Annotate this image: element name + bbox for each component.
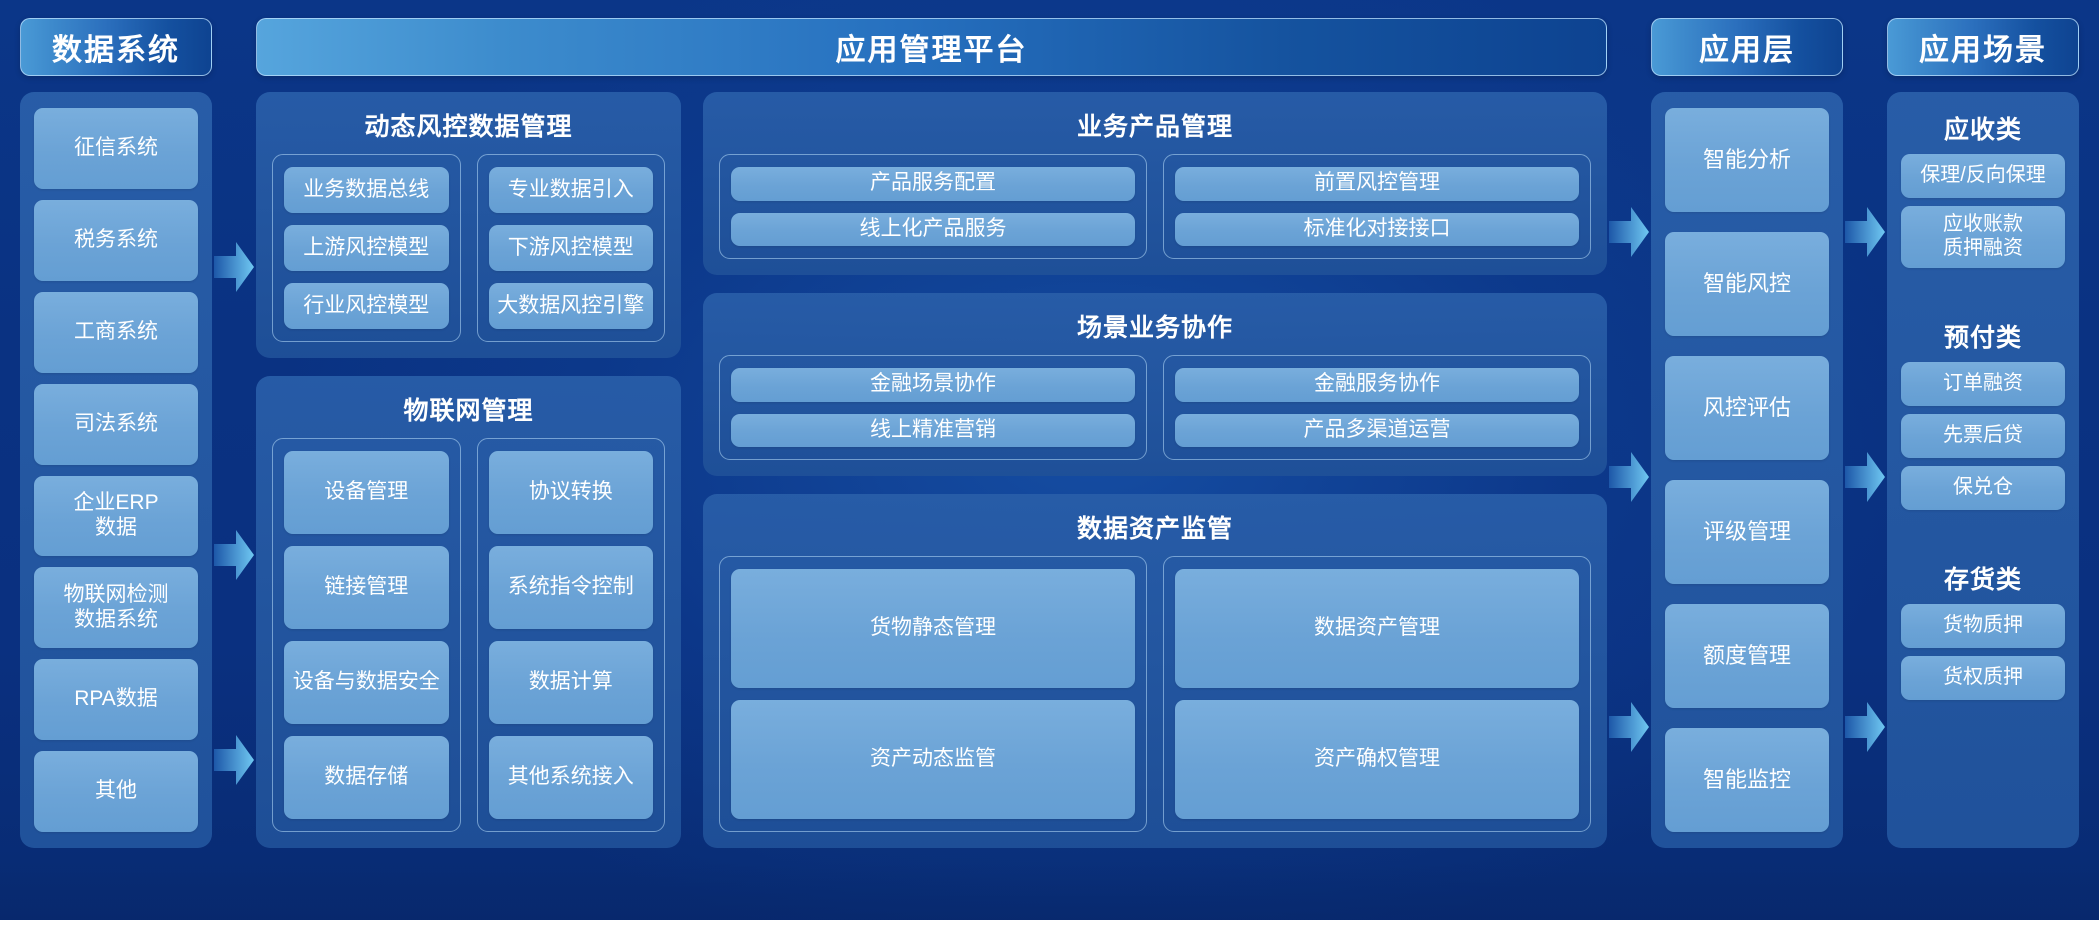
panel-data-system-items: 征信系统 税务系统 工商系统 司法系统 企业ERP 数据 物联网检测 数据系统 … xyxy=(20,92,212,848)
list-item[interactable]: 保兑仓 xyxy=(1901,466,2065,510)
column-platform: 应用管理平台 动态风控数据管理 业务数据总线 上游风控模型 行业风控模型 xyxy=(256,18,1607,848)
list-item[interactable]: 前置风控管理 xyxy=(1175,167,1579,201)
group-business-product-management: 业务产品管理 产品服务配置 线上化产品服务 前置风控管理 标准化对接接口 xyxy=(703,92,1607,275)
arrow-right-icon xyxy=(214,238,254,296)
subgroup-right: 协议转换 系统指令控制 数据计算 其他系统接入 xyxy=(477,438,666,832)
list-item[interactable]: 数据计算 xyxy=(489,641,654,724)
group-risk-data-management: 动态风控数据管理 业务数据总线 上游风控模型 行业风控模型 专业数据引入 下游风… xyxy=(256,92,681,358)
list-item[interactable]: 征信系统 xyxy=(34,108,198,189)
application-layer-list: 智能分析 智能风控 风控评估 评级管理 额度管理 智能监控 xyxy=(1665,108,1829,832)
list-item[interactable]: 其他系统接入 xyxy=(489,736,654,819)
list-item[interactable]: 专业数据引入 xyxy=(489,167,654,213)
group-columns: 产品服务配置 线上化产品服务 前置风控管理 标准化对接接口 xyxy=(719,154,1591,259)
subgroup-left: 货物静态管理 资产动态监管 xyxy=(719,556,1147,832)
diagram-columns: 数据系统 征信系统 税务系统 工商系统 司法系统 企业ERP 数据 物联网检测 … xyxy=(0,0,2099,920)
arrow-right-icon xyxy=(1845,698,1885,756)
arrow-right-icon xyxy=(1845,203,1885,261)
header-scenario[interactable]: 应用场景 xyxy=(1887,18,2079,76)
list-item[interactable]: 上游风控模型 xyxy=(284,225,449,271)
list-item[interactable]: 货物质押 xyxy=(1901,604,2065,648)
list-item[interactable]: 链接管理 xyxy=(284,546,449,629)
list-item[interactable]: 行业风控模型 xyxy=(284,283,449,329)
subgroup-left: 金融场景协作 线上精准营销 xyxy=(719,355,1147,460)
list-item[interactable]: 保理/反向保理 xyxy=(1901,154,2065,198)
subgroup-right: 专业数据引入 下游风控模型 大数据风控引擎 xyxy=(477,154,666,342)
list-item[interactable]: 设备与数据安全 xyxy=(284,641,449,724)
group-items: 货物质押 货权质押 xyxy=(1901,604,2065,700)
group-title: 业务产品管理 xyxy=(719,104,1591,154)
list-item[interactable]: 企业ERP 数据 xyxy=(34,476,198,557)
group-scenario-business-collaboration: 场景业务协作 金融场景协作 线上精准营销 金融服务协作 产品多渠道运营 xyxy=(703,293,1607,476)
list-item[interactable]: 资产确权管理 xyxy=(1175,700,1579,819)
group-title: 应收类 xyxy=(1901,108,2065,154)
group-items: 保理/反向保理 应收账款 质押融资 xyxy=(1901,154,2065,268)
group-columns: 设备管理 链接管理 设备与数据安全 数据存储 协议转换 系统指令控制 数据计算 … xyxy=(272,438,665,832)
list-item[interactable]: 产品服务配置 xyxy=(731,167,1135,201)
subgroup-right: 金融服务协作 产品多渠道运营 xyxy=(1163,355,1591,460)
platform-body: 动态风控数据管理 业务数据总线 上游风控模型 行业风控模型 专业数据引入 下游风… xyxy=(256,92,1607,848)
list-item[interactable]: 应收账款 质押融资 xyxy=(1901,206,2065,268)
group-title: 预付类 xyxy=(1901,308,2065,362)
list-item[interactable]: 额度管理 xyxy=(1665,604,1829,708)
list-item[interactable]: 工商系统 xyxy=(34,292,198,373)
arrow-right-icon xyxy=(214,731,254,789)
subgroup-right: 前置风控管理 标准化对接接口 xyxy=(1163,154,1591,259)
group-columns: 业务数据总线 上游风控模型 行业风控模型 专业数据引入 下游风控模型 大数据风控… xyxy=(272,154,665,342)
list-item[interactable]: 评级管理 xyxy=(1665,480,1829,584)
subgroup-right: 数据资产管理 资产确权管理 xyxy=(1163,556,1591,832)
arrow-right-icon xyxy=(1609,448,1649,506)
scenario-group-receivable: 应收类 保理/反向保理 应收账款 质押融资 xyxy=(1901,108,2065,268)
scenario-groups: 应收类 保理/反向保理 应收账款 质押融资 预付类 订单融资 先票后贷 保兑仓 xyxy=(1901,108,2065,832)
group-title: 动态风控数据管理 xyxy=(272,104,665,154)
panel-scenario-items: 应收类 保理/反向保理 应收账款 质押融资 预付类 订单融资 先票后贷 保兑仓 xyxy=(1887,92,2079,848)
scenario-group-prepaid: 预付类 订单融资 先票后贷 保兑仓 xyxy=(1901,308,2065,510)
data-system-list: 征信系统 税务系统 工商系统 司法系统 企业ERP 数据 物联网检测 数据系统 … xyxy=(34,108,198,832)
list-item[interactable]: 设备管理 xyxy=(284,451,449,534)
group-title: 物联网管理 xyxy=(272,388,665,438)
arrow-right-icon xyxy=(1609,203,1649,261)
diagram-canvas: 数据系统 征信系统 税务系统 工商系统 司法系统 企业ERP 数据 物联网检测 … xyxy=(0,0,2099,920)
subgroup-left: 设备管理 链接管理 设备与数据安全 数据存储 xyxy=(272,438,461,832)
list-item[interactable]: 下游风控模型 xyxy=(489,225,654,271)
list-item[interactable]: 税务系统 xyxy=(34,200,198,281)
arrow-right-icon xyxy=(1845,448,1885,506)
column-data-system: 数据系统 征信系统 税务系统 工商系统 司法系统 企业ERP 数据 物联网检测 … xyxy=(20,18,212,848)
header-platform[interactable]: 应用管理平台 xyxy=(256,18,1607,76)
list-item[interactable]: RPA数据 xyxy=(34,659,198,740)
list-item[interactable]: 资产动态监管 xyxy=(731,700,1135,819)
platform-left-column: 动态风控数据管理 业务数据总线 上游风控模型 行业风控模型 专业数据引入 下游风… xyxy=(256,92,681,848)
group-title: 场景业务协作 xyxy=(719,305,1591,355)
list-item[interactable]: 金融服务协作 xyxy=(1175,368,1579,402)
group-columns: 金融场景协作 线上精准营销 金融服务协作 产品多渠道运营 xyxy=(719,355,1591,460)
list-item[interactable]: 智能监控 xyxy=(1665,728,1829,832)
subgroup-left: 业务数据总线 上游风控模型 行业风控模型 xyxy=(272,154,461,342)
list-item[interactable]: 线上化产品服务 xyxy=(731,213,1135,247)
column-application-layer: 应用层 智能分析 智能风控 风控评估 评级管理 额度管理 智能监控 xyxy=(1651,18,1843,848)
list-item[interactable]: 标准化对接接口 xyxy=(1175,213,1579,247)
list-item[interactable]: 数据资产管理 xyxy=(1175,569,1579,688)
column-scenario: 应用场景 应收类 保理/反向保理 应收账款 质押融资 预付类 订单融资 xyxy=(1887,18,2079,848)
arrow-right-icon xyxy=(214,526,254,584)
platform-right-column: 业务产品管理 产品服务配置 线上化产品服务 前置风控管理 标准化对接接口 xyxy=(703,92,1607,848)
subgroup-left: 产品服务配置 线上化产品服务 xyxy=(719,154,1147,259)
group-title: 数据资产监管 xyxy=(719,506,1591,556)
arrow-right-icon xyxy=(1609,698,1649,756)
list-item[interactable]: 产品多渠道运营 xyxy=(1175,414,1579,448)
list-item[interactable]: 其他 xyxy=(34,751,198,832)
list-item[interactable]: 系统指令控制 xyxy=(489,546,654,629)
list-item[interactable]: 货权质押 xyxy=(1901,656,2065,700)
list-item[interactable]: 先票后贷 xyxy=(1901,414,2065,458)
list-item[interactable]: 数据存储 xyxy=(284,736,449,819)
group-columns: 货物静态管理 资产动态监管 数据资产管理 资产确权管理 xyxy=(719,556,1591,832)
list-item[interactable]: 智能风控 xyxy=(1665,232,1829,336)
list-item[interactable]: 风控评估 xyxy=(1665,356,1829,460)
list-item[interactable]: 货物静态管理 xyxy=(731,569,1135,688)
list-item[interactable]: 司法系统 xyxy=(34,384,198,465)
list-item[interactable]: 大数据风控引擎 xyxy=(489,283,654,329)
header-data-system[interactable]: 数据系统 xyxy=(20,18,212,76)
header-application-layer[interactable]: 应用层 xyxy=(1651,18,1843,76)
list-item[interactable]: 协议转换 xyxy=(489,451,654,534)
list-item[interactable]: 业务数据总线 xyxy=(284,167,449,213)
list-item[interactable]: 智能分析 xyxy=(1665,108,1829,212)
list-item[interactable]: 金融场景协作 xyxy=(731,368,1135,402)
panel-application-layer-items: 智能分析 智能风控 风控评估 评级管理 额度管理 智能监控 xyxy=(1651,92,1843,848)
group-data-asset-supervision: 数据资产监管 货物静态管理 资产动态监管 数据资产管理 资产确权管理 xyxy=(703,494,1607,848)
group-title: 存货类 xyxy=(1901,550,2065,604)
scenario-group-inventory: 存货类 货物质押 货权质押 xyxy=(1901,550,2065,700)
list-item[interactable]: 订单融资 xyxy=(1901,362,2065,406)
group-iot-management: 物联网管理 设备管理 链接管理 设备与数据安全 数据存储 协议转换 系统指令控制 xyxy=(256,376,681,848)
group-items: 订单融资 先票后贷 保兑仓 xyxy=(1901,362,2065,510)
list-item[interactable]: 线上精准营销 xyxy=(731,414,1135,448)
list-item[interactable]: 物联网检测 数据系统 xyxy=(34,567,198,648)
